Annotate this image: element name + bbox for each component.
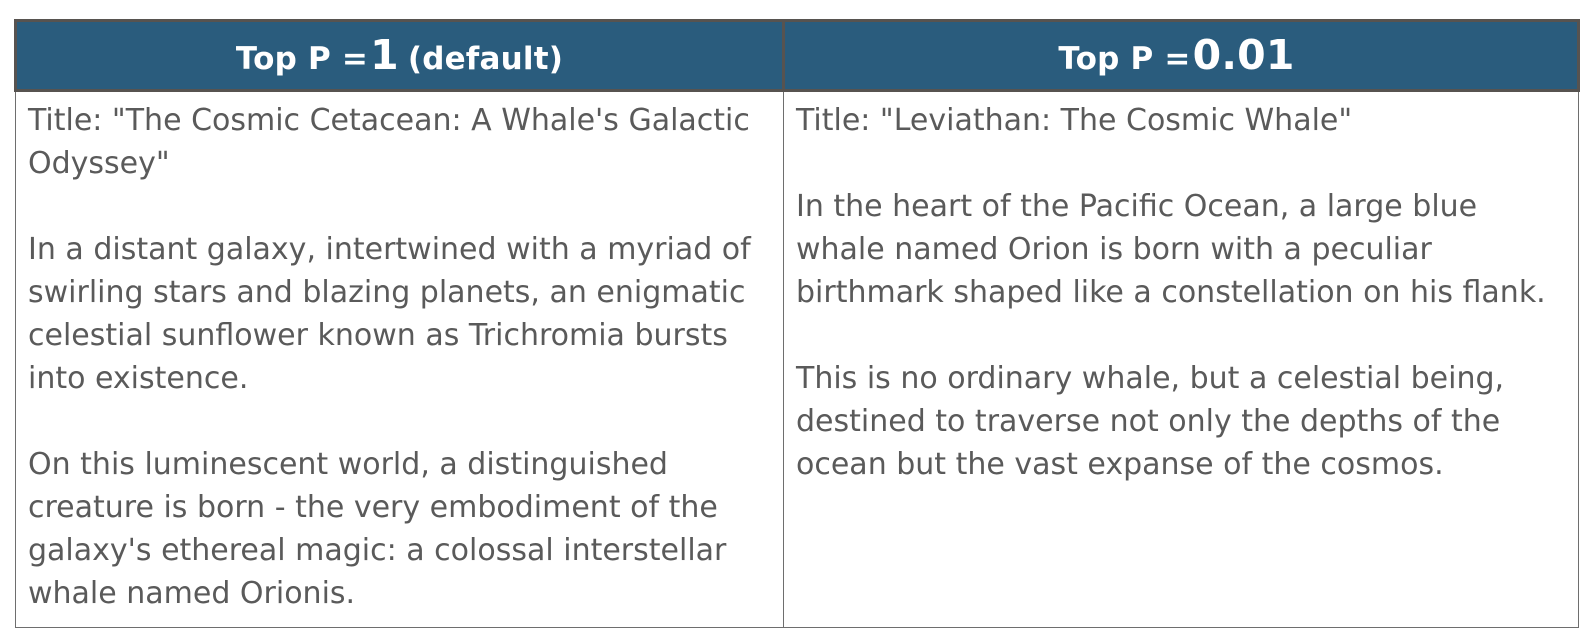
column-header-suffix-left: (default)	[401, 41, 563, 77]
table-body: Title: "The Cosmic Cetacean: A Whale's G…	[16, 91, 1579, 628]
page-root: Top P =1(default) Top P =0.01 Title: "Th…	[0, 0, 1592, 640]
paragraph-title-right: Title: "Leviathan: The Cosmic Whale"	[796, 99, 1564, 142]
paragraph-text: Title: "Leviathan: The Cosmic Whale"	[796, 99, 1564, 142]
column-header-label-right: Top P =	[1058, 41, 1190, 77]
paragraph-body-left-2: On this luminescent world, a distinguish…	[28, 443, 769, 615]
paragraph-body-right-2: This is no ordinary whale, but a celesti…	[796, 357, 1564, 486]
column-header-suffix-right	[1297, 41, 1304, 77]
table-header-row: Top P =1(default) Top P =0.01	[16, 21, 1579, 91]
paragraph-text: In a distant galaxy, intertwined with a …	[28, 228, 769, 400]
paragraph-title-left: Title: "The Cosmic Cetacean: A Whale's G…	[28, 99, 769, 185]
paragraph-text: In the heart of the Pacific Ocean, a lar…	[796, 185, 1564, 314]
column-header-value-right: 0.01	[1191, 31, 1297, 79]
column-header-label-left: Top P =	[236, 41, 368, 77]
paragraph-text: Title: "The Cosmic Cetacean: A Whale's G…	[28, 99, 769, 185]
column-header-top-p-0-01: Top P =0.01	[784, 21, 1579, 91]
paragraph-body-left-1: In a distant galaxy, intertwined with a …	[28, 228, 769, 400]
paragraph-text: This is no ordinary whale, but a celesti…	[796, 357, 1564, 486]
table-row: Title: "The Cosmic Cetacean: A Whale's G…	[16, 91, 1579, 628]
table-header-row-group: Top P =1(default) Top P =0.01	[16, 21, 1579, 91]
cell-top-p-1-output: Title: "The Cosmic Cetacean: A Whale's G…	[16, 91, 784, 628]
cell-top-p-0-01-output: Title: "Leviathan: The Cosmic Whale" In …	[784, 91, 1579, 628]
column-header-value-left: 1	[368, 31, 401, 79]
paragraph-body-right-1: In the heart of the Pacific Ocean, a lar…	[796, 185, 1564, 314]
top-p-comparison-table: Top P =1(default) Top P =0.01 Title: "Th…	[14, 19, 1580, 628]
column-header-top-p-1: Top P =1(default)	[16, 21, 784, 91]
paragraph-text: On this luminescent world, a distinguish…	[28, 443, 769, 615]
